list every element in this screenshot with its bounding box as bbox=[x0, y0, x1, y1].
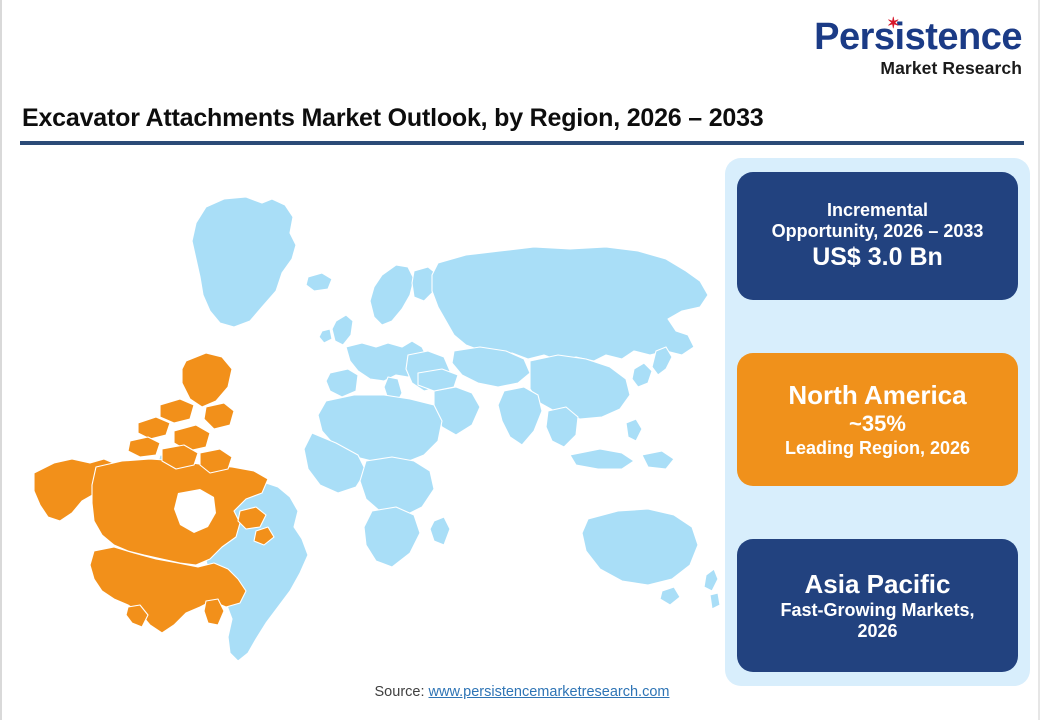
card-fast-growing-region: Asia Pacific Fast-Growing Markets, 2026 bbox=[737, 539, 1018, 672]
card-3-caption: Fast-Growing Markets, bbox=[780, 600, 974, 621]
world-map bbox=[10, 155, 720, 675]
card-3-region: Asia Pacific bbox=[805, 569, 951, 600]
card-1-line-2: Opportunity, 2026 – 2033 bbox=[772, 221, 984, 242]
brand-logo: Persistence ✶ Market Research bbox=[792, 18, 1022, 78]
card-1-value: US$ 3.0 Bn bbox=[812, 242, 943, 272]
source-link[interactable]: www.persistencemarketresearch.com bbox=[429, 684, 670, 700]
card-2-caption: Leading Region, 2026 bbox=[785, 438, 970, 459]
brand-tagline: Market Research bbox=[792, 60, 1022, 78]
brand-name-text: Persistence bbox=[814, 16, 1022, 58]
star-icon: ✶ bbox=[887, 16, 899, 31]
brand-name: Persistence ✶ bbox=[792, 18, 1022, 56]
card-leading-region: North America ~35% Leading Region, 2026 bbox=[737, 353, 1018, 486]
infographic-page: Persistence ✶ Market Research Excavator … bbox=[0, 0, 1040, 720]
map-highlight-north-america bbox=[34, 353, 274, 633]
card-1-line-1: Incremental bbox=[827, 200, 928, 221]
card-2-share: ~35% bbox=[849, 411, 906, 437]
page-title: Excavator Attachments Market Outlook, by… bbox=[22, 104, 764, 133]
world-map-svg bbox=[10, 155, 720, 675]
card-incremental-opportunity: Incremental Opportunity, 2026 – 2033 US$… bbox=[737, 172, 1018, 300]
title-divider bbox=[20, 141, 1024, 145]
highlights-panel: Incremental Opportunity, 2026 – 2033 US$… bbox=[725, 158, 1030, 686]
source-footer: Source: www.persistencemarketresearch.co… bbox=[2, 684, 1040, 700]
card-3-year: 2026 bbox=[857, 621, 897, 642]
card-2-region: North America bbox=[788, 380, 966, 411]
source-label: Source: bbox=[375, 684, 429, 700]
